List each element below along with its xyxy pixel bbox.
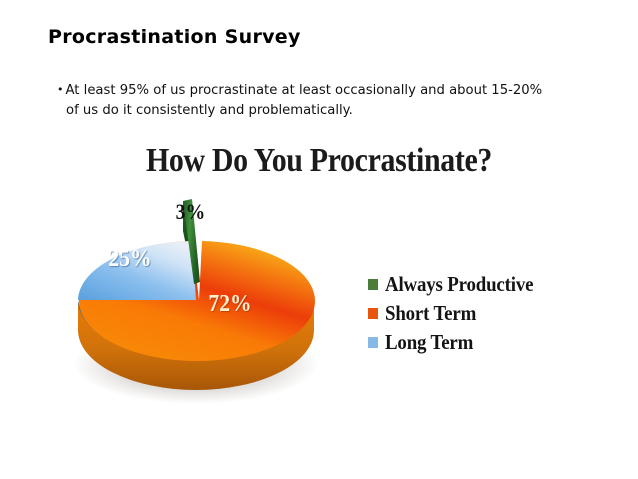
- legend-item-short-term: Short Term: [368, 299, 588, 328]
- pie-chart-graphic: 3% 72% 25%: [70, 186, 330, 426]
- list-item-text: At least 95% of us procrastinate at leas…: [66, 83, 543, 118]
- legend-item-long-term: Long Term: [368, 328, 588, 357]
- pie-svg: [70, 186, 330, 426]
- bullet-list: •At least 95% of us procrastinate at lea…: [57, 80, 557, 121]
- bullet-dot-icon: •: [57, 83, 66, 96]
- legend-swatch-icon: [368, 308, 378, 319]
- legend-label: Short Term: [385, 301, 476, 326]
- legend-label: Always Productive: [385, 272, 533, 297]
- list-item: •At least 95% of us procrastinate at lea…: [57, 80, 557, 121]
- legend-item-always-productive: Always Productive: [368, 270, 588, 299]
- chart-legend: Always Productive Short Term Long Term: [368, 270, 588, 357]
- pie-chart-figure: How Do You Procrastinate?: [0, 138, 638, 438]
- page-title: Procrastination Survey: [48, 26, 301, 48]
- legend-label: Long Term: [385, 330, 473, 355]
- chart-title: How Do You Procrastinate?: [38, 142, 599, 180]
- legend-swatch-icon: [368, 337, 378, 348]
- legend-swatch-icon: [368, 279, 378, 290]
- pie-slice-long-term: [78, 241, 196, 300]
